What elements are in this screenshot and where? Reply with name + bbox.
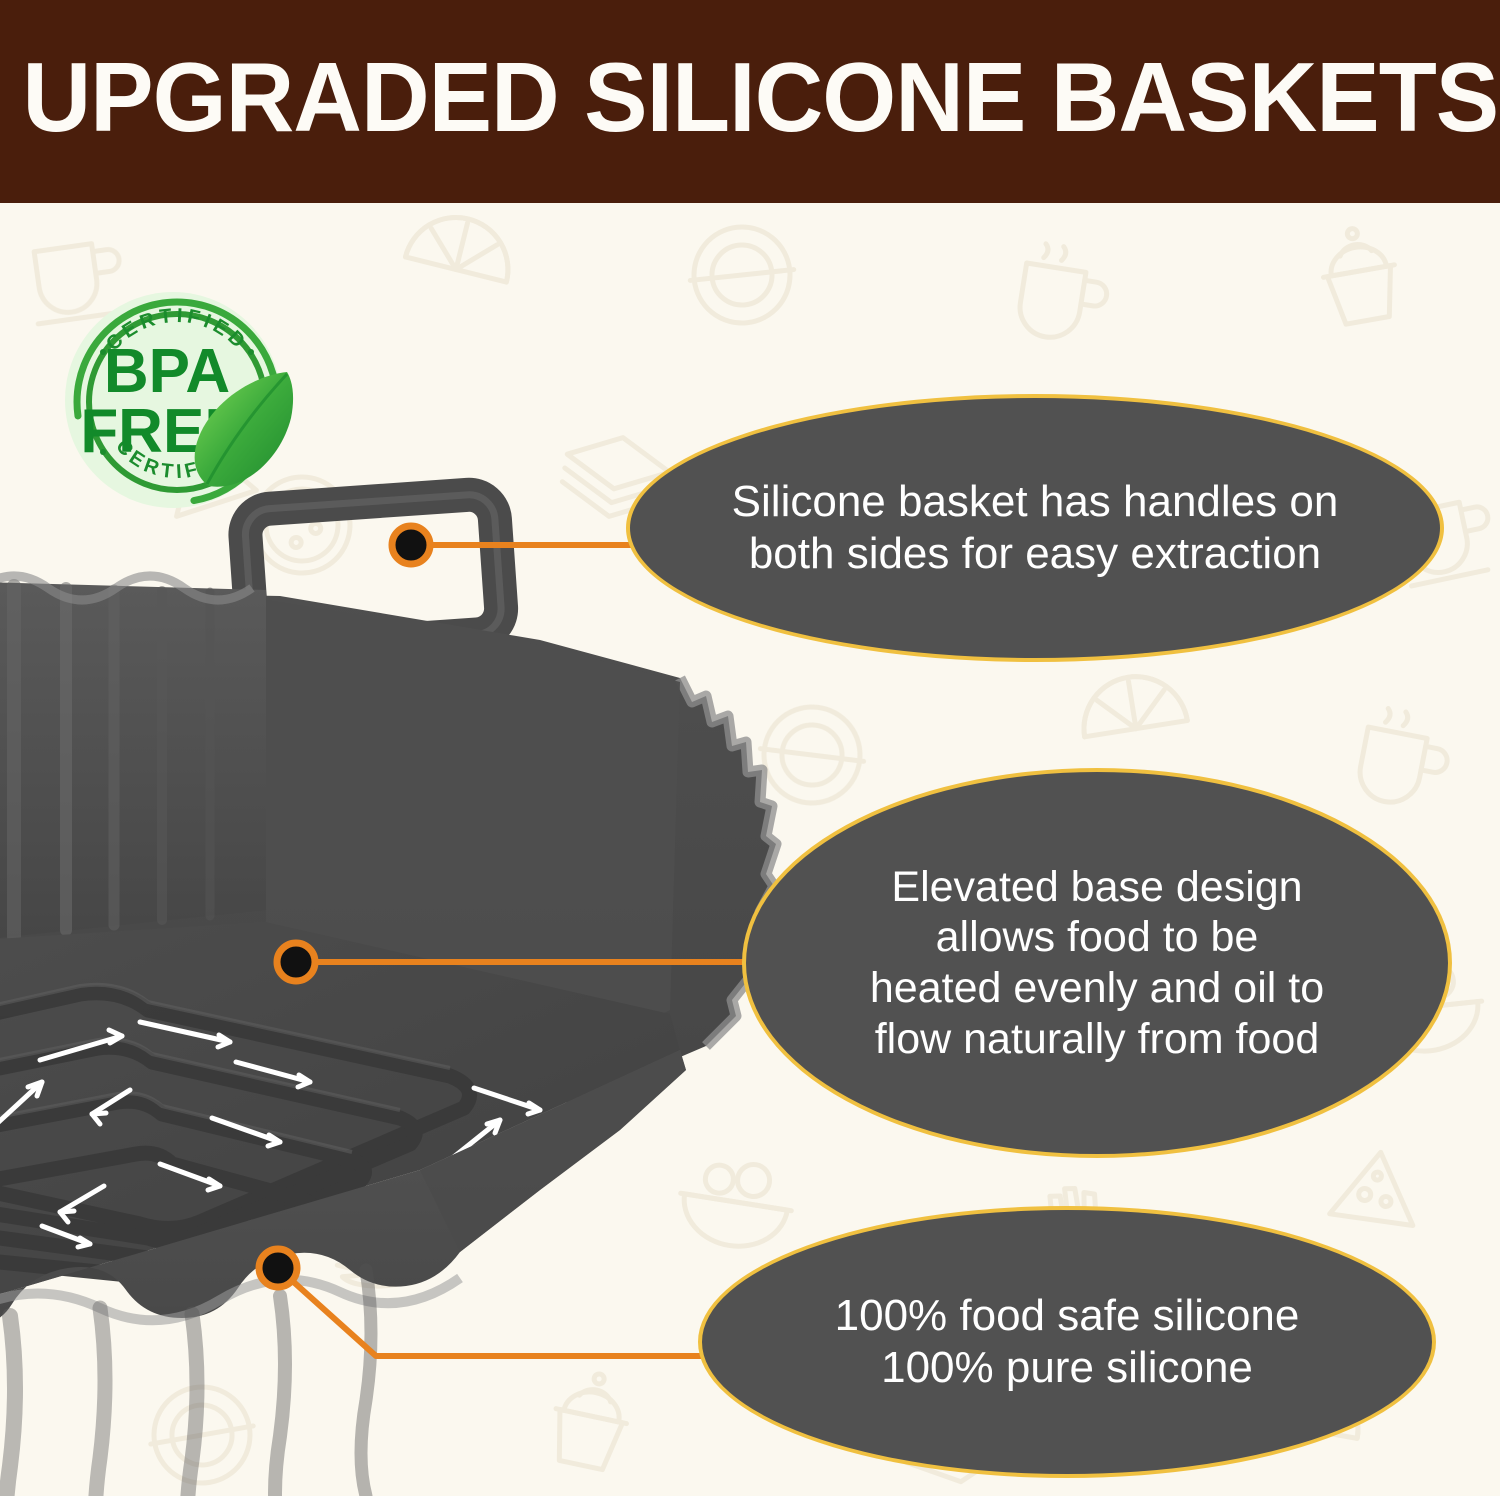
bpa-free-badge: CERTIFIED CERTIFIED BPA FREE: [55, 280, 300, 520]
callout-elevated-base-text: Elevated base design allows food to be h…: [824, 862, 1370, 1065]
callout-elevated-base: Elevated base design allows food to be h…: [742, 768, 1452, 1158]
infographic-canvas: CERTIFIED CERTIFIED BPA FREE: [0, 0, 1500, 1496]
badge-line-1: BPA: [104, 337, 230, 406]
callout-food-safe-text: 100% food safe silicone 100% pure silico…: [789, 1290, 1346, 1394]
callout-handles: Silicone basket has handles on both side…: [626, 394, 1444, 662]
callout-food-safe: 100% food safe silicone 100% pure silico…: [698, 1206, 1436, 1478]
page-title: UPGRADED SILICONE BASKETS: [23, 38, 1478, 156]
callout-handles-text: Silicone basket has handles on both side…: [686, 476, 1385, 580]
header-band: UPGRADED SILICONE BASKETS: [0, 0, 1500, 203]
silicone-basket-illustration: [0, 470, 800, 1496]
